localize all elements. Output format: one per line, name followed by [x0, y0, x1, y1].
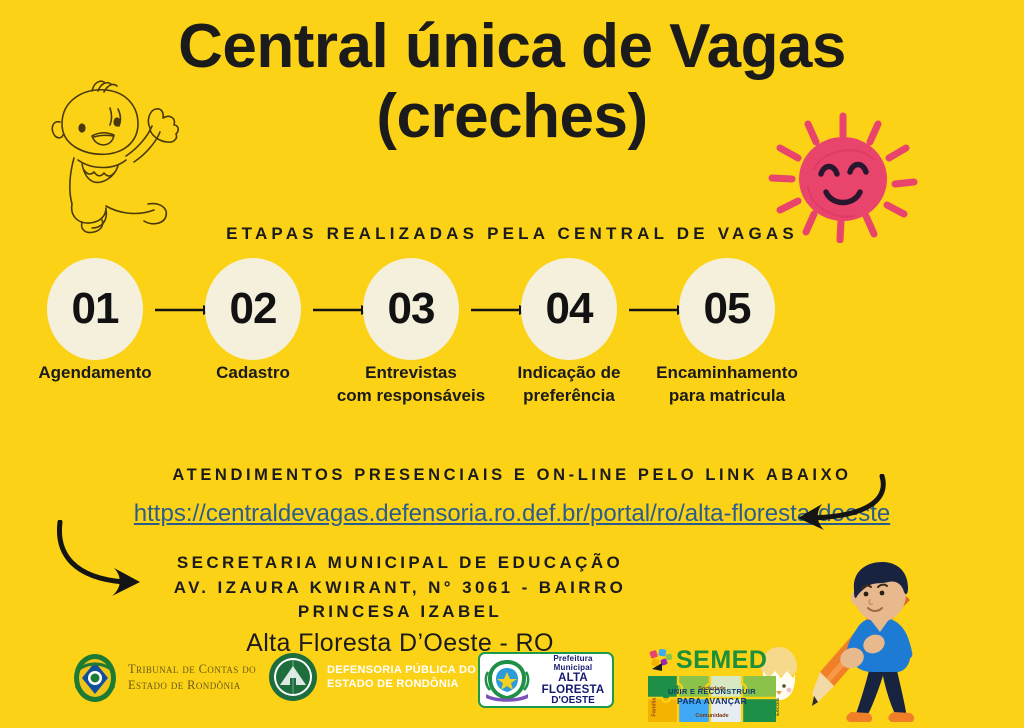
- semed-wordmark: SEMED: [676, 648, 767, 673]
- step-05-bubble: 05: [679, 258, 775, 360]
- poster-canvas: Central única de Vagas (creches): [0, 0, 1024, 728]
- step-04-number: 04: [546, 284, 593, 334]
- address-block: SECRETARIA MUNICIPAL DE EDUCAÇÃO AV. IZA…: [0, 551, 800, 658]
- section-heading: ETAPAS REALIZADAS PELA CENTRAL DE VAGAS: [0, 224, 1024, 244]
- address-line-3: PRINCESA IZABEL: [0, 600, 800, 625]
- semed-slogan-1: UNIR E RECONSTRUIR: [648, 687, 776, 696]
- defensoria-publica-logo: DEFENSORIA PÚBLICA DO ESTADO DE RONDÔNIA: [268, 652, 476, 702]
- step-01: 01 Agendamento: [47, 258, 143, 360]
- step-02-bubble: 02: [205, 258, 301, 360]
- step-05-label: Encaminhamento para matricula: [627, 362, 827, 408]
- step-02: 02 Cadastro: [205, 258, 301, 360]
- prefeitura-line-1: Prefeitura Municipal: [534, 654, 612, 672]
- step-05-number: 05: [704, 284, 751, 334]
- address-line-2: AV. IZAURA KWIRANT, N° 3061 - BAIRRO: [0, 576, 800, 601]
- prefeitura-label: Prefeitura Municipal ALTA FLORESTA D'OES…: [534, 654, 612, 707]
- semed-piece-left: Família: [651, 698, 657, 717]
- step-02-number: 02: [230, 284, 277, 334]
- dpe-line-2: ESTADO DE RONDÔNIA: [327, 677, 476, 691]
- step-01-number: 01: [72, 284, 119, 334]
- step-05: 05 Encaminhamento para matricula: [679, 258, 775, 360]
- tribunal-de-contas-logo: Tribunal de Contas do Estado de Rondônia: [72, 652, 256, 704]
- semed-piece-bottom: Comunidade: [695, 713, 728, 719]
- sun-icon: [758, 108, 928, 243]
- address-line-1: SECRETARIA MUNICIPAL DE EDUCAÇÃO: [0, 551, 800, 576]
- curved-arrow-to-link-icon: [770, 474, 890, 536]
- semed-piece-right: Escola: [775, 698, 781, 716]
- step-03-bubble: 03: [363, 258, 459, 360]
- prefeitura-line-3: D'OESTE: [534, 696, 612, 707]
- defensoria-publica-label: DEFENSORIA PÚBLICA DO ESTADO DE RONDÔNIA: [327, 663, 476, 692]
- step-01-bubble: 01: [47, 258, 143, 360]
- baby-illustration: [22, 78, 202, 238]
- steps-flow: 01 Agendamento 02 Cadastro 03 Entrevista…: [0, 258, 1024, 418]
- tribunal-de-contas-label: Tribunal de Contas do Estado de Rondônia: [128, 662, 256, 693]
- prefeitura-municipal-logo: Prefeitura Municipal ALTA FLORESTA D'OES…: [478, 652, 614, 708]
- tce-line-2: Estado de Rondônia: [128, 678, 256, 694]
- brasao-republica-icon: [72, 652, 118, 704]
- prefeitura-brasao-icon: [480, 656, 534, 704]
- prefeitura-line-2: ALTA FLORESTA: [534, 672, 612, 696]
- footer-logos: Tribunal de Contas do Estado de Rondônia…: [0, 648, 1024, 728]
- semed-confetti-icon: [648, 649, 674, 673]
- step-04-bubble: 04: [521, 258, 617, 360]
- semed-logo: SEMED: [648, 648, 778, 724]
- defensoria-seal-icon: [268, 652, 318, 702]
- step-03: 03 Entrevistas com responsáveis: [363, 258, 459, 360]
- tce-line-1: Tribunal de Contas do: [128, 662, 256, 678]
- dpe-line-1: DEFENSORIA PÚBLICA DO: [327, 663, 476, 677]
- title-line-1: Central única de Vagas: [0, 16, 1024, 78]
- step-03-number: 03: [388, 284, 435, 334]
- step-04: 04 Indicação de preferência: [521, 258, 617, 360]
